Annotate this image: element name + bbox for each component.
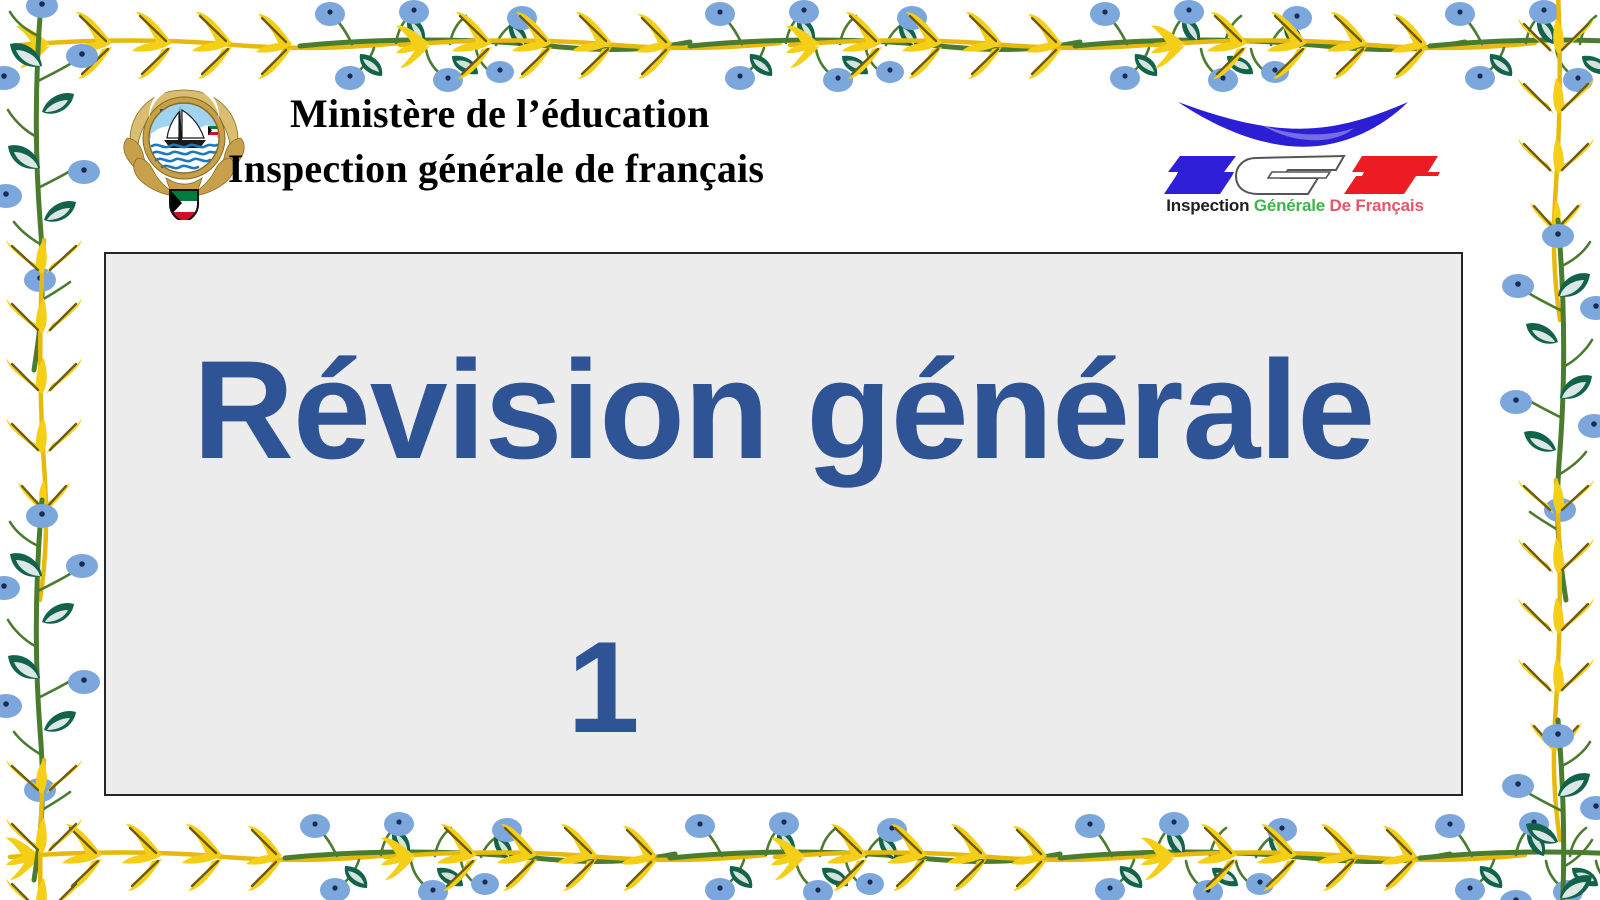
- content-panel: Révision générale 1: [104, 252, 1463, 796]
- slide-number: 1: [106, 622, 1461, 752]
- ministry-line-1: Ministère de l’éducation: [228, 86, 1018, 141]
- floral-border-bottom: [0, 804, 1600, 900]
- floral-border-left: [0, 0, 110, 900]
- igf-wordmark-part-2: Générale: [1254, 196, 1325, 215]
- igf-wordmark-part-1: Inspection: [1166, 196, 1249, 215]
- igf-wordmark-part-3: De Français: [1330, 196, 1424, 215]
- slide-canvas: Ministère de l’éducation Inspection géné…: [0, 0, 1600, 900]
- slide-title: Révision générale: [106, 336, 1461, 483]
- ministry-line-2: Inspection générale de français: [228, 141, 1018, 196]
- ministry-heading: Ministère de l’éducation Inspection géné…: [228, 86, 1018, 196]
- igf-wordmark: Inspection Générale De Français: [1140, 196, 1450, 216]
- header: Ministère de l’éducation Inspection géné…: [110, 74, 1500, 234]
- floral-border-right: [1490, 0, 1600, 900]
